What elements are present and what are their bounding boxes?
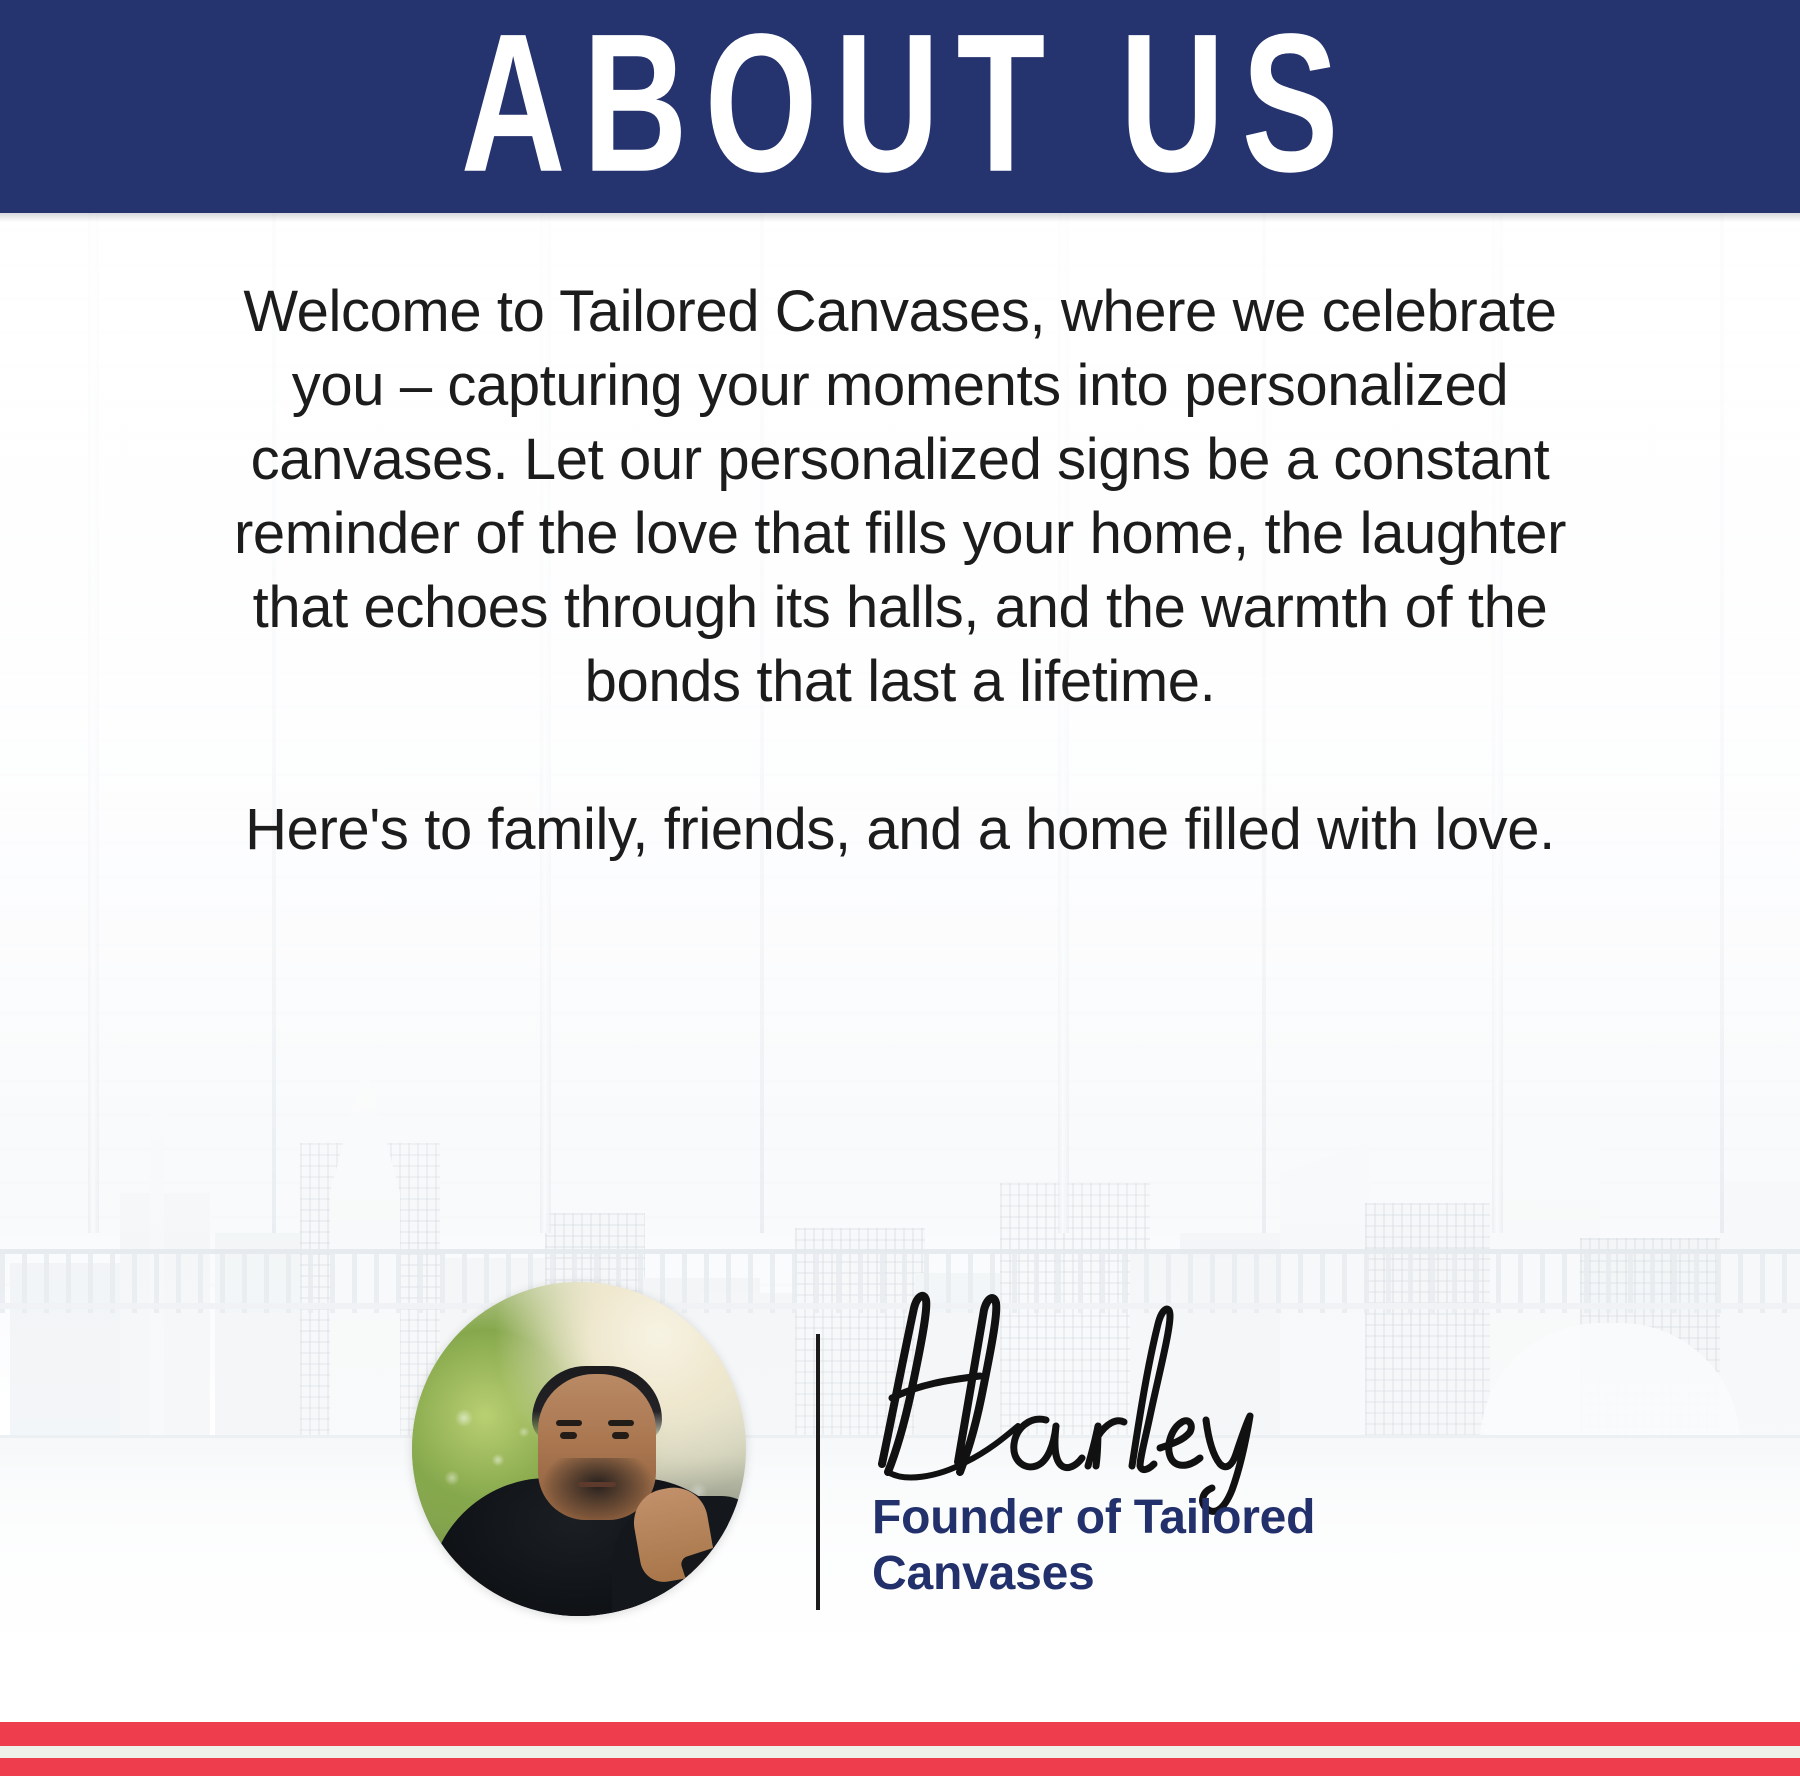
header-drop-shadow — [0, 213, 1800, 222]
about-us-body: Welcome to Tailored Canvases, where we c… — [200, 275, 1600, 867]
founder-title-line-2: Canvases — [872, 1546, 1492, 1602]
window-mullion — [1720, 213, 1724, 1233]
signature-divider — [816, 1334, 820, 1610]
paragraph-spacer — [200, 719, 1600, 793]
paragraph-closing: Here's to family, friends, and a home fi… — [200, 793, 1600, 867]
signature-harley — [840, 1276, 1320, 1506]
window-mullion — [88, 213, 99, 1233]
founder-title-line-1: Founder of Tailored — [872, 1490, 1492, 1546]
about-us-page: ABOUT US Welcome to Tailored Canvases, w… — [0, 0, 1800, 1776]
founder-title: Founder of Tailored Canvases — [872, 1490, 1492, 1602]
signature-icon — [840, 1276, 1320, 1506]
footer-divider-bar — [0, 1746, 1800, 1758]
footer-accent-bar-bottom — [0, 1758, 1800, 1776]
avatar — [412, 1282, 746, 1616]
paragraph-intro: Welcome to Tailored Canvases, where we c… — [200, 275, 1600, 719]
footer-accent-bar-top — [0, 1722, 1800, 1746]
page-title: ABOUT US — [444, 5, 1356, 202]
header-band: ABOUT US — [0, 0, 1800, 213]
